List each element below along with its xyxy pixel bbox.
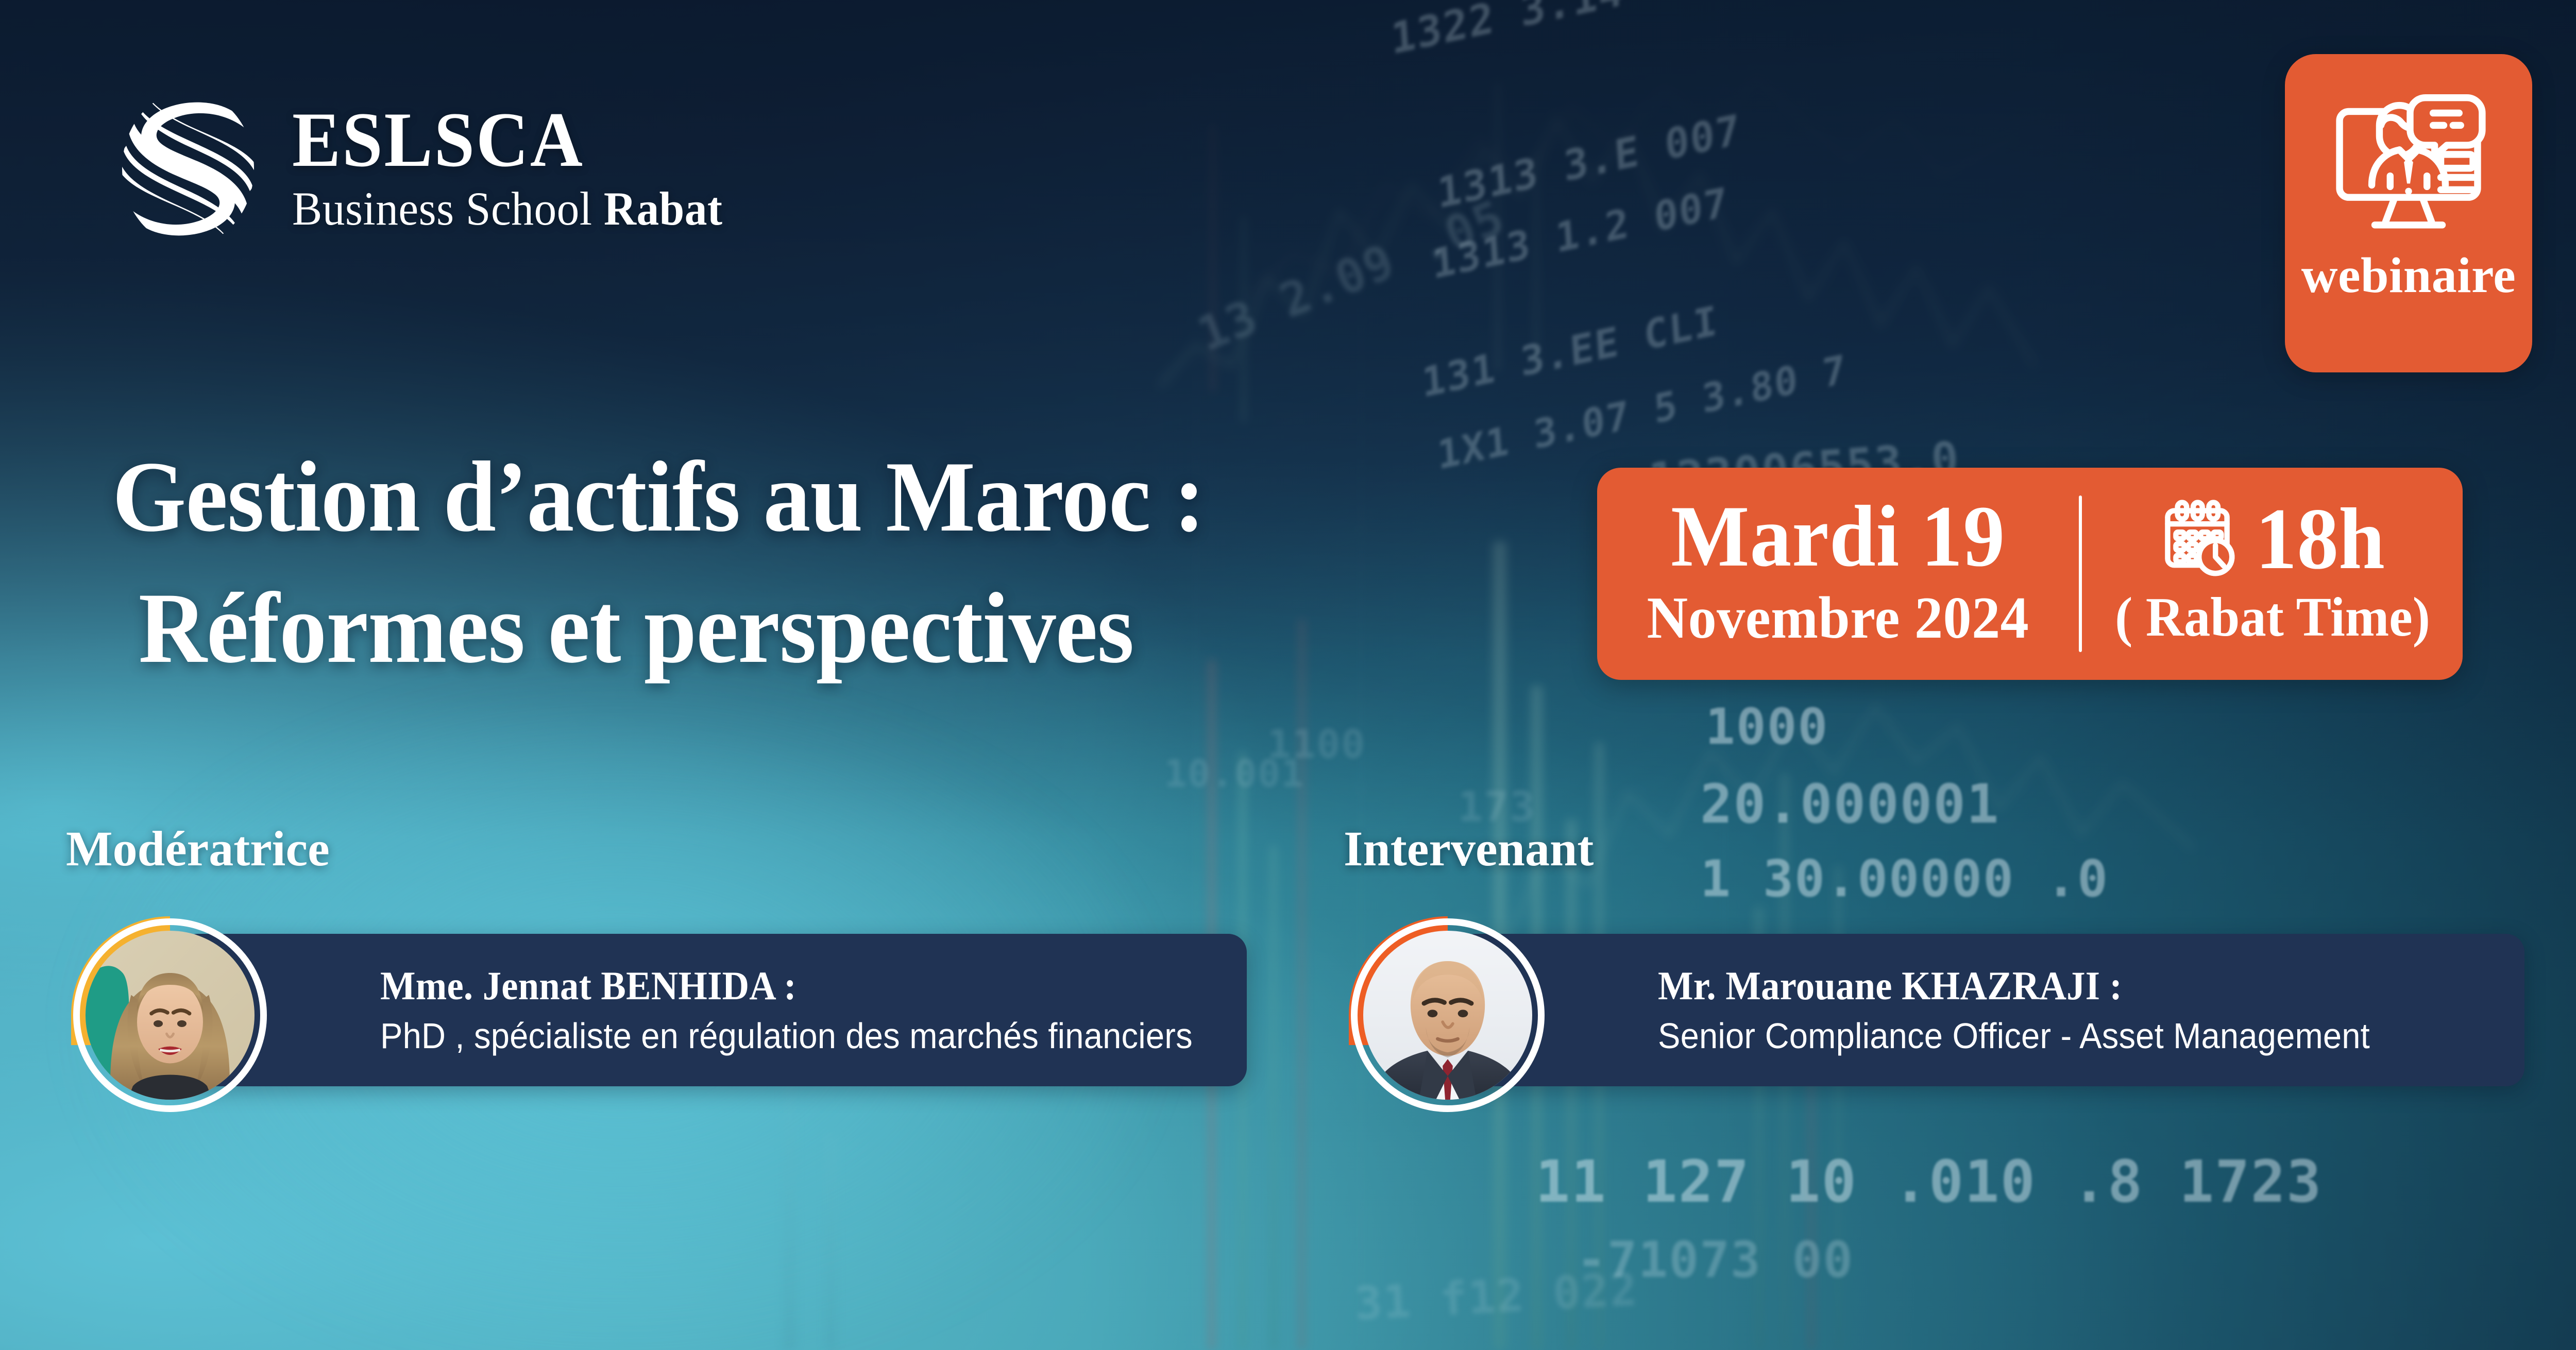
logo-title: ESLSCA — [292, 102, 714, 178]
webinaire-label: webinaire — [2301, 247, 2516, 304]
speaker-role-label: Intervenant — [1344, 820, 2524, 877]
speaker-name: Mme. Jennat BENHIDA : — [380, 961, 1167, 1010]
logo-subtitle-light: Business School — [292, 182, 604, 235]
eslsca-globe-logo — [111, 90, 265, 247]
avatar-marouane-khazraji — [1340, 907, 1556, 1123]
logo-subtitle: Business School Rabat — [292, 182, 723, 235]
webinaire-badge[interactable]: webinaire — [2285, 54, 2532, 372]
speaker-title: Senior Compliance Officer - Asset Manage… — [1658, 1013, 2445, 1060]
event-timezone: ( Rabat Time) — [2115, 586, 2430, 649]
avatar-jennat-benhida — [62, 907, 278, 1123]
speaker-title: PhD , spécialiste en régulation des marc… — [380, 1013, 1167, 1060]
event-hour: 18h — [2256, 495, 2385, 583]
speaker-info-card: Mr. Marouane KHAZRAJI : Senior Complianc… — [1457, 934, 2524, 1086]
speaker-card-moderatrice: Modératrice Mme. Jennat BENHIDA : PhD , … — [62, 820, 1247, 1123]
date-month-year: Novembre 2024 — [1647, 584, 2029, 652]
page-title: Gestion d’actifs au Maroc : Réformes et … — [112, 432, 1555, 694]
title-line-2: Réformes et perspectives — [112, 563, 1555, 694]
date-time-badge: Mardi 19 Novembre 2024 — [1597, 468, 2463, 680]
speaker-role-label: Modératrice — [66, 820, 1247, 877]
calendar-clock-icon — [2156, 498, 2239, 580]
date-block: Mardi 19 Novembre 2024 — [1597, 468, 2079, 680]
webinar-monitor-icon — [2324, 78, 2494, 243]
speaker-name: Mr. Marouane KHAZRAJI : — [1658, 961, 2445, 1010]
webinar-banner: 1322 3.14 1313 3.E 007 1313 1.2 007 131 … — [0, 0, 2576, 1350]
portrait-woman — [86, 931, 255, 1100]
speaker-info-card: Mme. Jennat BENHIDA : PhD , spécialiste … — [179, 934, 1247, 1086]
speaker-card-intervenant: Intervenant Mr. Marouane KHAZRAJI : Seni… — [1340, 820, 2524, 1123]
time-block: 18h ( Rabat Time) — [2082, 468, 2463, 680]
avatar-photo — [1363, 931, 1532, 1100]
avatar-photo — [86, 931, 255, 1100]
title-line-1: Gestion d’actifs au Maroc : — [112, 432, 1555, 563]
date-day: Mardi 19 — [1671, 492, 2005, 580]
logo-subtitle-bold: Rabat — [604, 182, 723, 235]
eslsca-logo: ESLSCA Business School Rabat — [111, 90, 745, 247]
portrait-man — [1363, 931, 1532, 1100]
